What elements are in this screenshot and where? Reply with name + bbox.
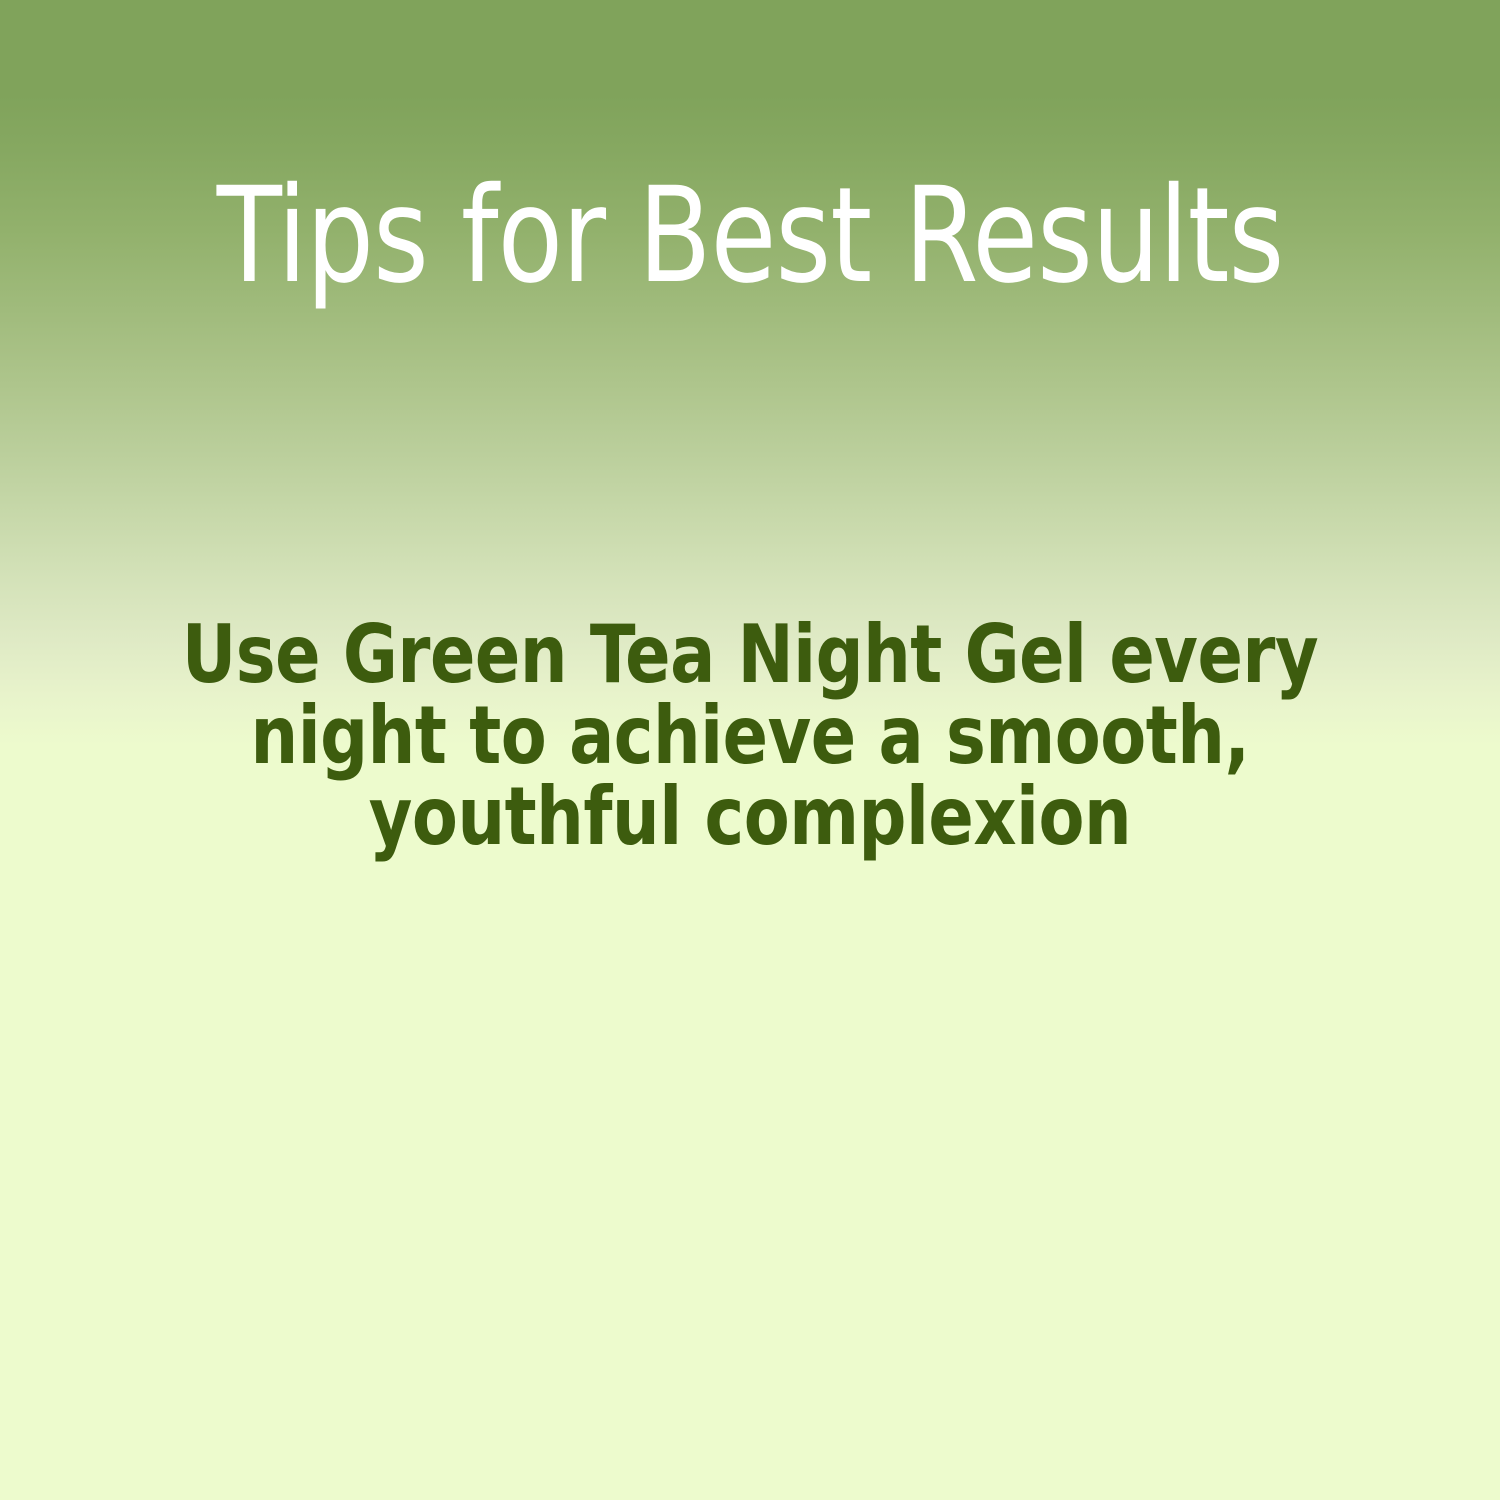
page-title: Tips for Best Results [75,168,1425,305]
body-line-1: Use Green Tea Night Gel every [53,614,1448,695]
empty-lower-area [0,900,1500,1500]
body-line-2: night to achieve a smooth, [53,695,1448,776]
body-line-3: youthful complexion [53,776,1448,857]
slide-content: Tips for Best Results Use Green Tea Nigh… [0,0,1500,1500]
title-block: Tips for Best Results [0,168,1500,305]
slide-canvas: Tips for Best Results Use Green Tea Nigh… [0,0,1500,1500]
body-text-block: Use Green Tea Night Gel every night to a… [0,614,1500,857]
